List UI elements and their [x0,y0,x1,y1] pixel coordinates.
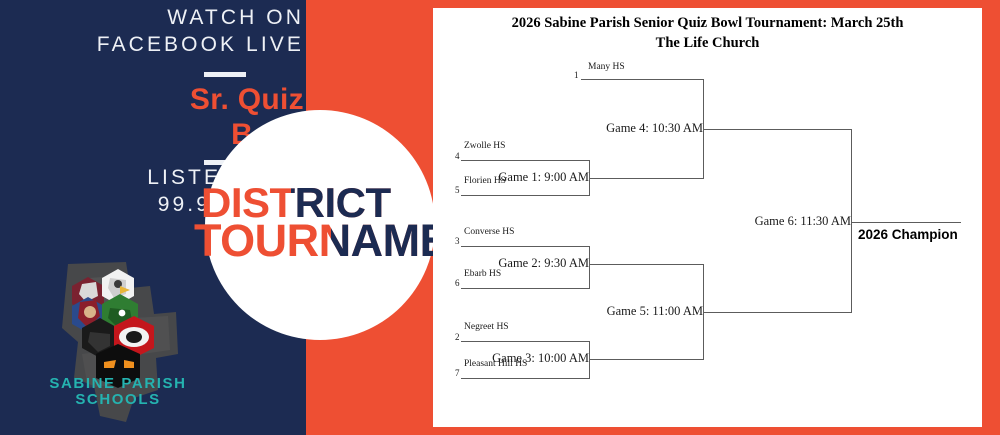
district-tournament-wordart: DISTRICT DISTRICT TOURNAMENT TOURNAMENT [195,183,470,263]
game-2-label: Game 2: 9:30 AM [469,256,589,271]
line-game4-out [703,129,851,130]
team-converse-hs: Converse HS [464,227,514,237]
game-6-label: Game 6: 11:30 AM [731,214,851,229]
seed-2: 2 [455,332,460,342]
tournament-bracket-panel: 2026 Sabine Parish Senior Quiz Bowl Tour… [433,8,982,427]
game-1-label: Game 1: 9:00 AM [469,170,589,185]
watch-line-1: WATCH ON [0,4,306,31]
line-seed5 [461,195,589,196]
logo-text-line-2: SCHOOLS [38,392,198,408]
line-seed7 [461,378,589,379]
line-game3-out [589,359,703,360]
sabine-parish-schools-logo: SABINE PARISH SCHOOLS [38,258,198,426]
team-many-hs: Many HS [588,62,625,72]
line-seed1 [581,79,703,80]
line-seed2 [461,341,589,342]
seed-5: 5 [455,185,460,195]
wordart-line-tournament: TOURNAMENT TOURNAMENT [194,221,469,261]
flyer-canvas: WATCH ON FACEBOOK LIVE Sr. Quiz Bowl LIS… [0,0,1000,435]
line-game2-bracket [589,246,590,289]
line-game2-out [589,264,703,265]
line-seed6 [461,288,589,289]
bracket-title-line-1: 2026 Sabine Parish Senior Quiz Bowl Tour… [433,13,982,33]
line-champion [851,222,961,223]
line-game5-out [703,312,851,313]
team-negreet-hs: Negreet HS [464,322,509,332]
logo-text-line-1: SABINE PARISH [38,376,198,392]
team-zwolle-hs: Zwolle HS [464,141,505,151]
seed-3: 3 [455,236,460,246]
seed-7: 7 [455,368,460,378]
logo-text-block: SABINE PARISH SCHOOLS [38,376,198,408]
bracket-title: 2026 Sabine Parish Senior Quiz Bowl Tour… [433,13,982,53]
line-game1-out [589,178,703,179]
seed-6: 6 [455,278,460,288]
line-seed3 [461,246,589,247]
line-seed4 [461,160,589,161]
game-3-label: Game 3: 10:00 AM [469,351,589,366]
bracket-title-line-2: The Life Church [433,33,982,53]
line-game6-bracket [851,129,852,313]
event-title-line-1: Sr. Quiz [0,82,306,117]
champion-label: 2026 Champion [858,227,958,242]
game-5-label: Game 5: 11:00 AM [583,304,703,319]
line-game3-bracket [589,341,590,379]
game-4-label: Game 4: 10:30 AM [583,121,703,136]
watch-line-2: FACEBOOK LIVE [0,31,306,58]
seed-4: 4 [455,151,460,161]
watch-on-block: WATCH ON FACEBOOK LIVE [0,4,306,58]
divider-rule-top [0,64,306,82]
seed-1: 1 [574,70,579,80]
